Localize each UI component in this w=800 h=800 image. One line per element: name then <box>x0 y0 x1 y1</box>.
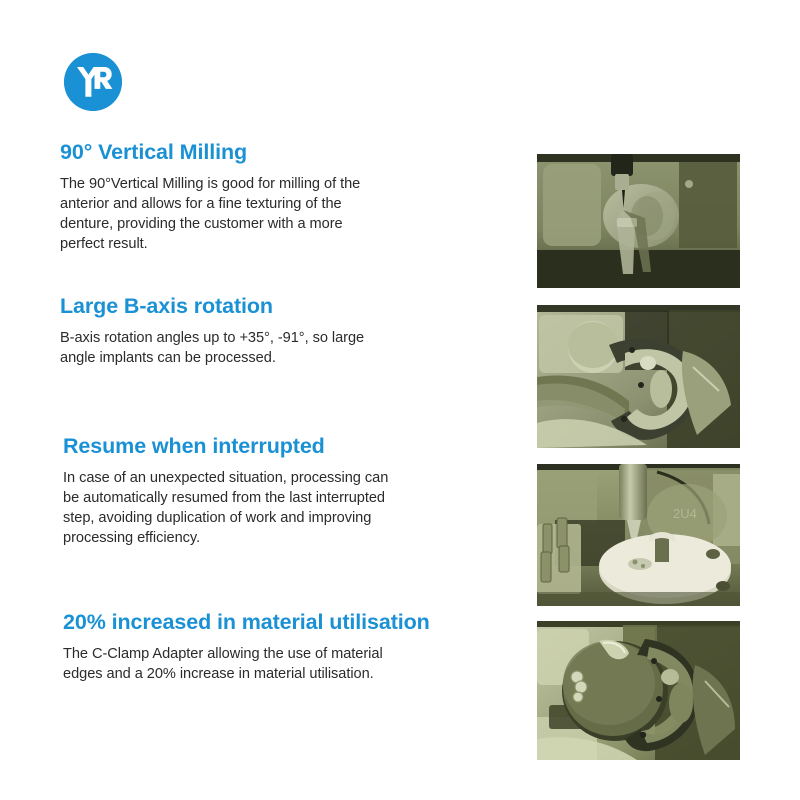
brand-logo <box>64 53 122 111</box>
feature-text-block: Resume when interrupted In case of an un… <box>63 434 483 548</box>
feature-photo-b-axis-rotation-clamp <box>537 305 740 448</box>
feature-heading: Resume when interrupted <box>63 434 483 459</box>
feature-body: The C-Clamp Adapter allowing the use of … <box>63 644 403 684</box>
svg-text:2U4: 2U4 <box>673 506 697 521</box>
feature-heading: Large B-axis rotation <box>60 294 480 319</box>
feature-heading: 90° Vertical Milling <box>60 140 480 165</box>
feature-photo-cnc-spindle-milling-disc <box>537 154 740 288</box>
feature-body: B-axis rotation angles up to +35°, -91°,… <box>60 328 400 368</box>
feature-photo-c-clamp-adapter-holding-disc <box>537 621 740 760</box>
yr-monogram-logo-icon <box>64 53 122 111</box>
feature-photo-spindle-above-white-disc-blank: 2U4 <box>537 464 740 606</box>
feature-heading: 20% increased in material utilisation <box>63 610 483 635</box>
feature-text-block: Large B-axis rotation B-axis rotation an… <box>60 294 480 368</box>
feature-text-block: 90° Vertical Milling The 90°Vertical Mil… <box>60 140 480 254</box>
feature-body: The 90°Vertical Milling is good for mill… <box>60 174 390 255</box>
feature-text-block: 20% increased in material utilisation Th… <box>63 610 483 684</box>
feature-body: In case of an unexpected situation, proc… <box>63 468 403 549</box>
